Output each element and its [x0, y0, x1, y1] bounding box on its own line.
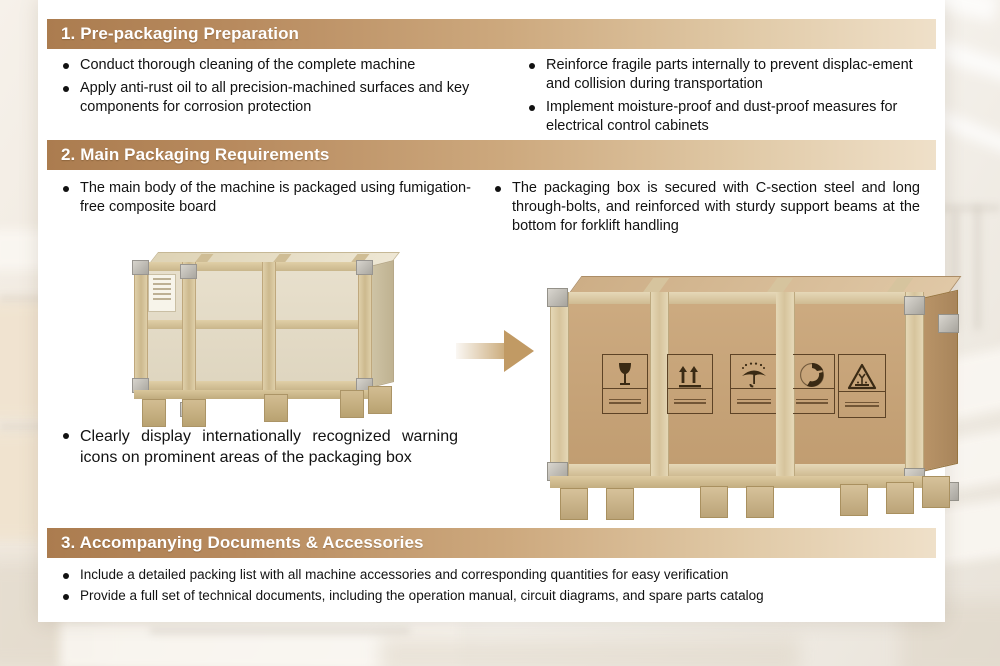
- wine-glass-shape: [615, 362, 635, 388]
- bullet-list: The main body of the machine is packaged…: [58, 179, 488, 217]
- content-card: 1. Pre-packaging Preparation Conduct tho…: [38, 0, 945, 622]
- bullet-list: Reinforce fragile parts internally to pr…: [524, 56, 934, 136]
- crate-corner-bracket: [180, 264, 197, 279]
- this-way-up-icon: [667, 354, 713, 414]
- list-item: Clearly display internationally recogniz…: [58, 426, 458, 468]
- fragile-icon: [602, 354, 648, 414]
- section-header-2: 2. Main Packaging Requirements: [47, 140, 936, 170]
- list-item: Conduct thorough cleaning of the complet…: [58, 56, 508, 75]
- list-item: Provide a full set of technical document…: [58, 587, 928, 604]
- crate-pallet-foot: [886, 482, 914, 514]
- section-1-column-left: Conduct thorough cleaning of the complet…: [58, 56, 508, 121]
- this-way-up-caption: [668, 388, 712, 411]
- section-2-column-left: The main body of the machine is packaged…: [58, 179, 488, 221]
- crate-top-rail: [134, 262, 370, 271]
- keep-dry-icon: [730, 354, 778, 414]
- section-3-column: Include a detailed packing list with all…: [58, 566, 928, 608]
- crate-plain-figure: [134, 252, 394, 422]
- bullet-list: The packaging box is secured with C-sect…: [490, 179, 920, 236]
- hazard-triangle-glyph: [839, 357, 885, 395]
- up-arrows-shape: [677, 362, 703, 388]
- handling-circle-caption: [790, 388, 834, 411]
- crate-pallet-foot: [606, 488, 634, 520]
- section-title-1: 1. Pre-packaging Preparation: [61, 24, 299, 44]
- section-header-3: 3. Accompanying Documents & Accessories: [47, 528, 936, 558]
- list-item: The main body of the machine is packaged…: [58, 179, 488, 217]
- crate-pallet-foot: [142, 399, 166, 427]
- umbrella-rain-shape: [739, 362, 769, 388]
- hazard-triangle-icon: [838, 354, 886, 418]
- crate-corner-bracket: [356, 260, 373, 275]
- crate-corner-bracket: [938, 314, 959, 333]
- crate-corner-post: [134, 262, 148, 390]
- bullet-list: Clearly display internationally recogniz…: [58, 426, 458, 468]
- crate-corner-post: [905, 292, 924, 476]
- list-item: The packaging box is secured with C-sect…: [490, 179, 920, 236]
- section-title-2: 2. Main Packaging Requirements: [61, 145, 329, 165]
- list-item: Include a detailed packing list with all…: [58, 566, 928, 583]
- list-item: Reinforce fragile parts internally to pr…: [524, 56, 934, 94]
- section-1-column-right: Reinforce fragile parts internally to pr…: [524, 56, 934, 140]
- crate-pallet-foot: [560, 488, 588, 520]
- crate-pallet-foot: [368, 386, 392, 414]
- background-shadow: [380, 636, 800, 666]
- section-2-column-right: The packaging box is secured with C-sect…: [490, 179, 920, 240]
- crate-corner-bracket: [132, 260, 149, 275]
- bullet-list: Conduct thorough cleaning of the complet…: [58, 56, 508, 117]
- crate-shipping-label: [148, 274, 176, 312]
- crate-pallet-foot: [182, 399, 206, 427]
- background-rail: [150, 628, 410, 634]
- fragile-caption: [603, 388, 647, 411]
- crate-corner-bracket: [547, 288, 568, 307]
- crate-marked-figure: [550, 276, 962, 506]
- crate-corner-post: [358, 262, 372, 390]
- circular-handling-shape: [799, 362, 825, 388]
- warning-triangle-shape: [847, 363, 877, 390]
- list-item: Implement moisture-proof and dust-proof …: [524, 98, 934, 136]
- crate-pallet-foot: [746, 486, 774, 518]
- hazard-triangle-caption: [839, 391, 885, 415]
- crate-corner-post: [550, 292, 569, 476]
- section-header-1: 1. Pre-packaging Preparation: [47, 19, 936, 49]
- crate-corner-post: [262, 262, 276, 390]
- crate-top-rail: [550, 292, 922, 304]
- section-title-3: 3. Accompanying Documents & Accessories: [61, 533, 424, 553]
- crate-pallet-foot: [922, 476, 950, 508]
- bullet-list: Include a detailed packing list with all…: [58, 566, 928, 604]
- crate-bottom-rail: [134, 381, 370, 390]
- crate-skid-board: [134, 390, 370, 399]
- background-rail: [974, 205, 981, 330]
- crate-pallet-foot: [340, 390, 364, 418]
- crate-corner-post: [182, 262, 196, 390]
- list-item: Apply anti-rust oil to all precision-mac…: [58, 79, 508, 117]
- transition-arrow-icon: [456, 330, 534, 372]
- section-2-lower-bullets: Clearly display internationally recogniz…: [58, 426, 458, 472]
- arrow-head: [504, 330, 534, 372]
- crate-side-face: [370, 260, 394, 388]
- crate-bottom-rail: [550, 464, 922, 476]
- crate-pallet-foot: [840, 484, 868, 516]
- crate-post-occlusion: [776, 292, 793, 476]
- crate-pallet-foot: [264, 394, 288, 422]
- keep-dry-caption: [731, 388, 777, 411]
- handling-circle-icon: [789, 354, 835, 414]
- crate-corner-bracket: [904, 296, 925, 315]
- crate-mid-rail: [134, 320, 370, 329]
- arrow-shaft: [456, 343, 508, 359]
- crate-pallet-foot: [700, 486, 728, 518]
